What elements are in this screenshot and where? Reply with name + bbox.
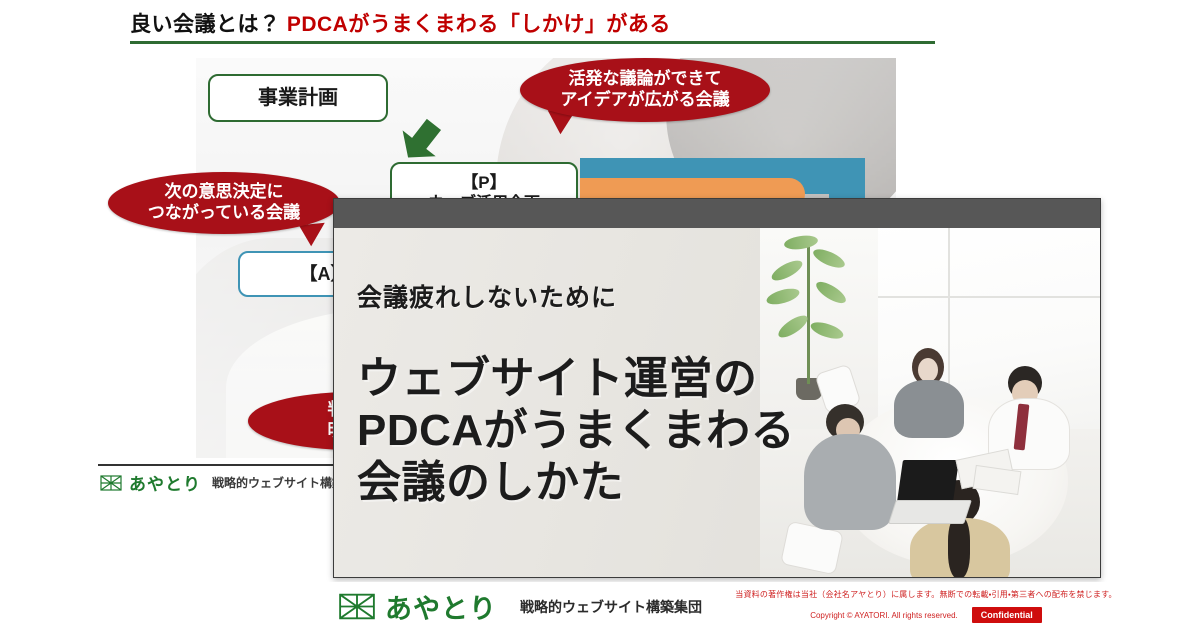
diagram-box-business-plan-label: 事業計画: [258, 86, 338, 111]
footer-notice: 当資料の著作権は当社（会社名アヤとり）に属します。無断での転載・引用・第三者への…: [726, 589, 1126, 600]
footer-logo[interactable]: あやとり 戦略的ウェブサイト構築集団: [338, 587, 702, 626]
page-title: 良い会議とは？ PDCAがうまくまわる「しかけ」がある: [130, 8, 671, 38]
slide-main-title-line2: PDCAがうまくまわる: [357, 405, 795, 457]
callout-decision-meeting-line2: つながっている会議: [148, 203, 300, 224]
callout-decision-meeting-line1: 次の意思決定に: [148, 182, 300, 203]
callout-decision-meeting: 次の意思決定に つながっている会議: [108, 172, 340, 234]
slide-subtitle: 会議疲れしないために: [357, 278, 617, 314]
footer-copyright-row: Copyright © AYATORI. All rights reserved…: [726, 607, 1126, 623]
slide-content-area: 会議疲れしないために ウェブサイト運営の PDCAがうまくまわる 会議のしかた: [334, 228, 1100, 578]
footer-copyright: Copyright © AYATORI. All rights reserved…: [810, 611, 958, 620]
callout-idea-meeting-line2: アイデアが広がる会議: [560, 90, 729, 111]
page-title-red: PDCAがうまくまわる「しかけ」がある: [287, 13, 671, 36]
meeting-photo: [760, 228, 1100, 578]
slide-main-title-line3: 会議のしかた: [357, 457, 795, 509]
laptop-keyboard: [888, 500, 972, 524]
ayatori-lattice-icon: [100, 475, 122, 491]
confidential-badge: Confidential: [972, 607, 1042, 623]
slide-main-title-line1: ウェブサイト運営の: [357, 353, 795, 405]
callout-idea-meeting-line1: 活発な議論ができて: [560, 69, 729, 90]
page-title-black: 良い会議とは？: [130, 13, 281, 36]
ayatori-lattice-icon: [338, 593, 376, 620]
slide-footer-logo: あやとり 戦略的ウェブサイト構築集団: [100, 470, 368, 495]
diagram-box-business-plan: 事業計画: [208, 74, 388, 122]
diagram-box-plan-p-line1: 【P】: [461, 173, 506, 192]
footer-logo-tagline: 戦略的ウェブサイト構築集団: [520, 597, 702, 617]
laptop-screen: [897, 460, 959, 502]
foreground-title-slide[interactable]: 会議疲れしないために ウェブサイト運営の PDCAがうまくまわる 会議のしかた: [333, 198, 1101, 578]
slide-main-title: ウェブサイト運営の PDCAがうまくまわる 会議のしかた: [357, 353, 795, 509]
plant-stem: [807, 244, 810, 384]
title-underline: [130, 41, 935, 44]
callout-idea-meeting: 活発な議論ができて アイデアが広がる会議: [520, 58, 770, 122]
callout-decision-meeting-tail: [299, 223, 327, 248]
slide-canvas: 良い会議とは？ PDCAがうまくまわる「しかけ」がある 事業計画: [0, 0, 1200, 630]
footer-logo-word: あやとり: [385, 587, 497, 626]
slide-top-bar: [334, 199, 1100, 228]
slide-footer-logo-word: あやとり: [129, 470, 201, 495]
page-footer: あやとり 戦略的ウェブサイト構築集団 当資料の著作権は当社（会社名アヤとり）に属…: [0, 582, 1200, 630]
